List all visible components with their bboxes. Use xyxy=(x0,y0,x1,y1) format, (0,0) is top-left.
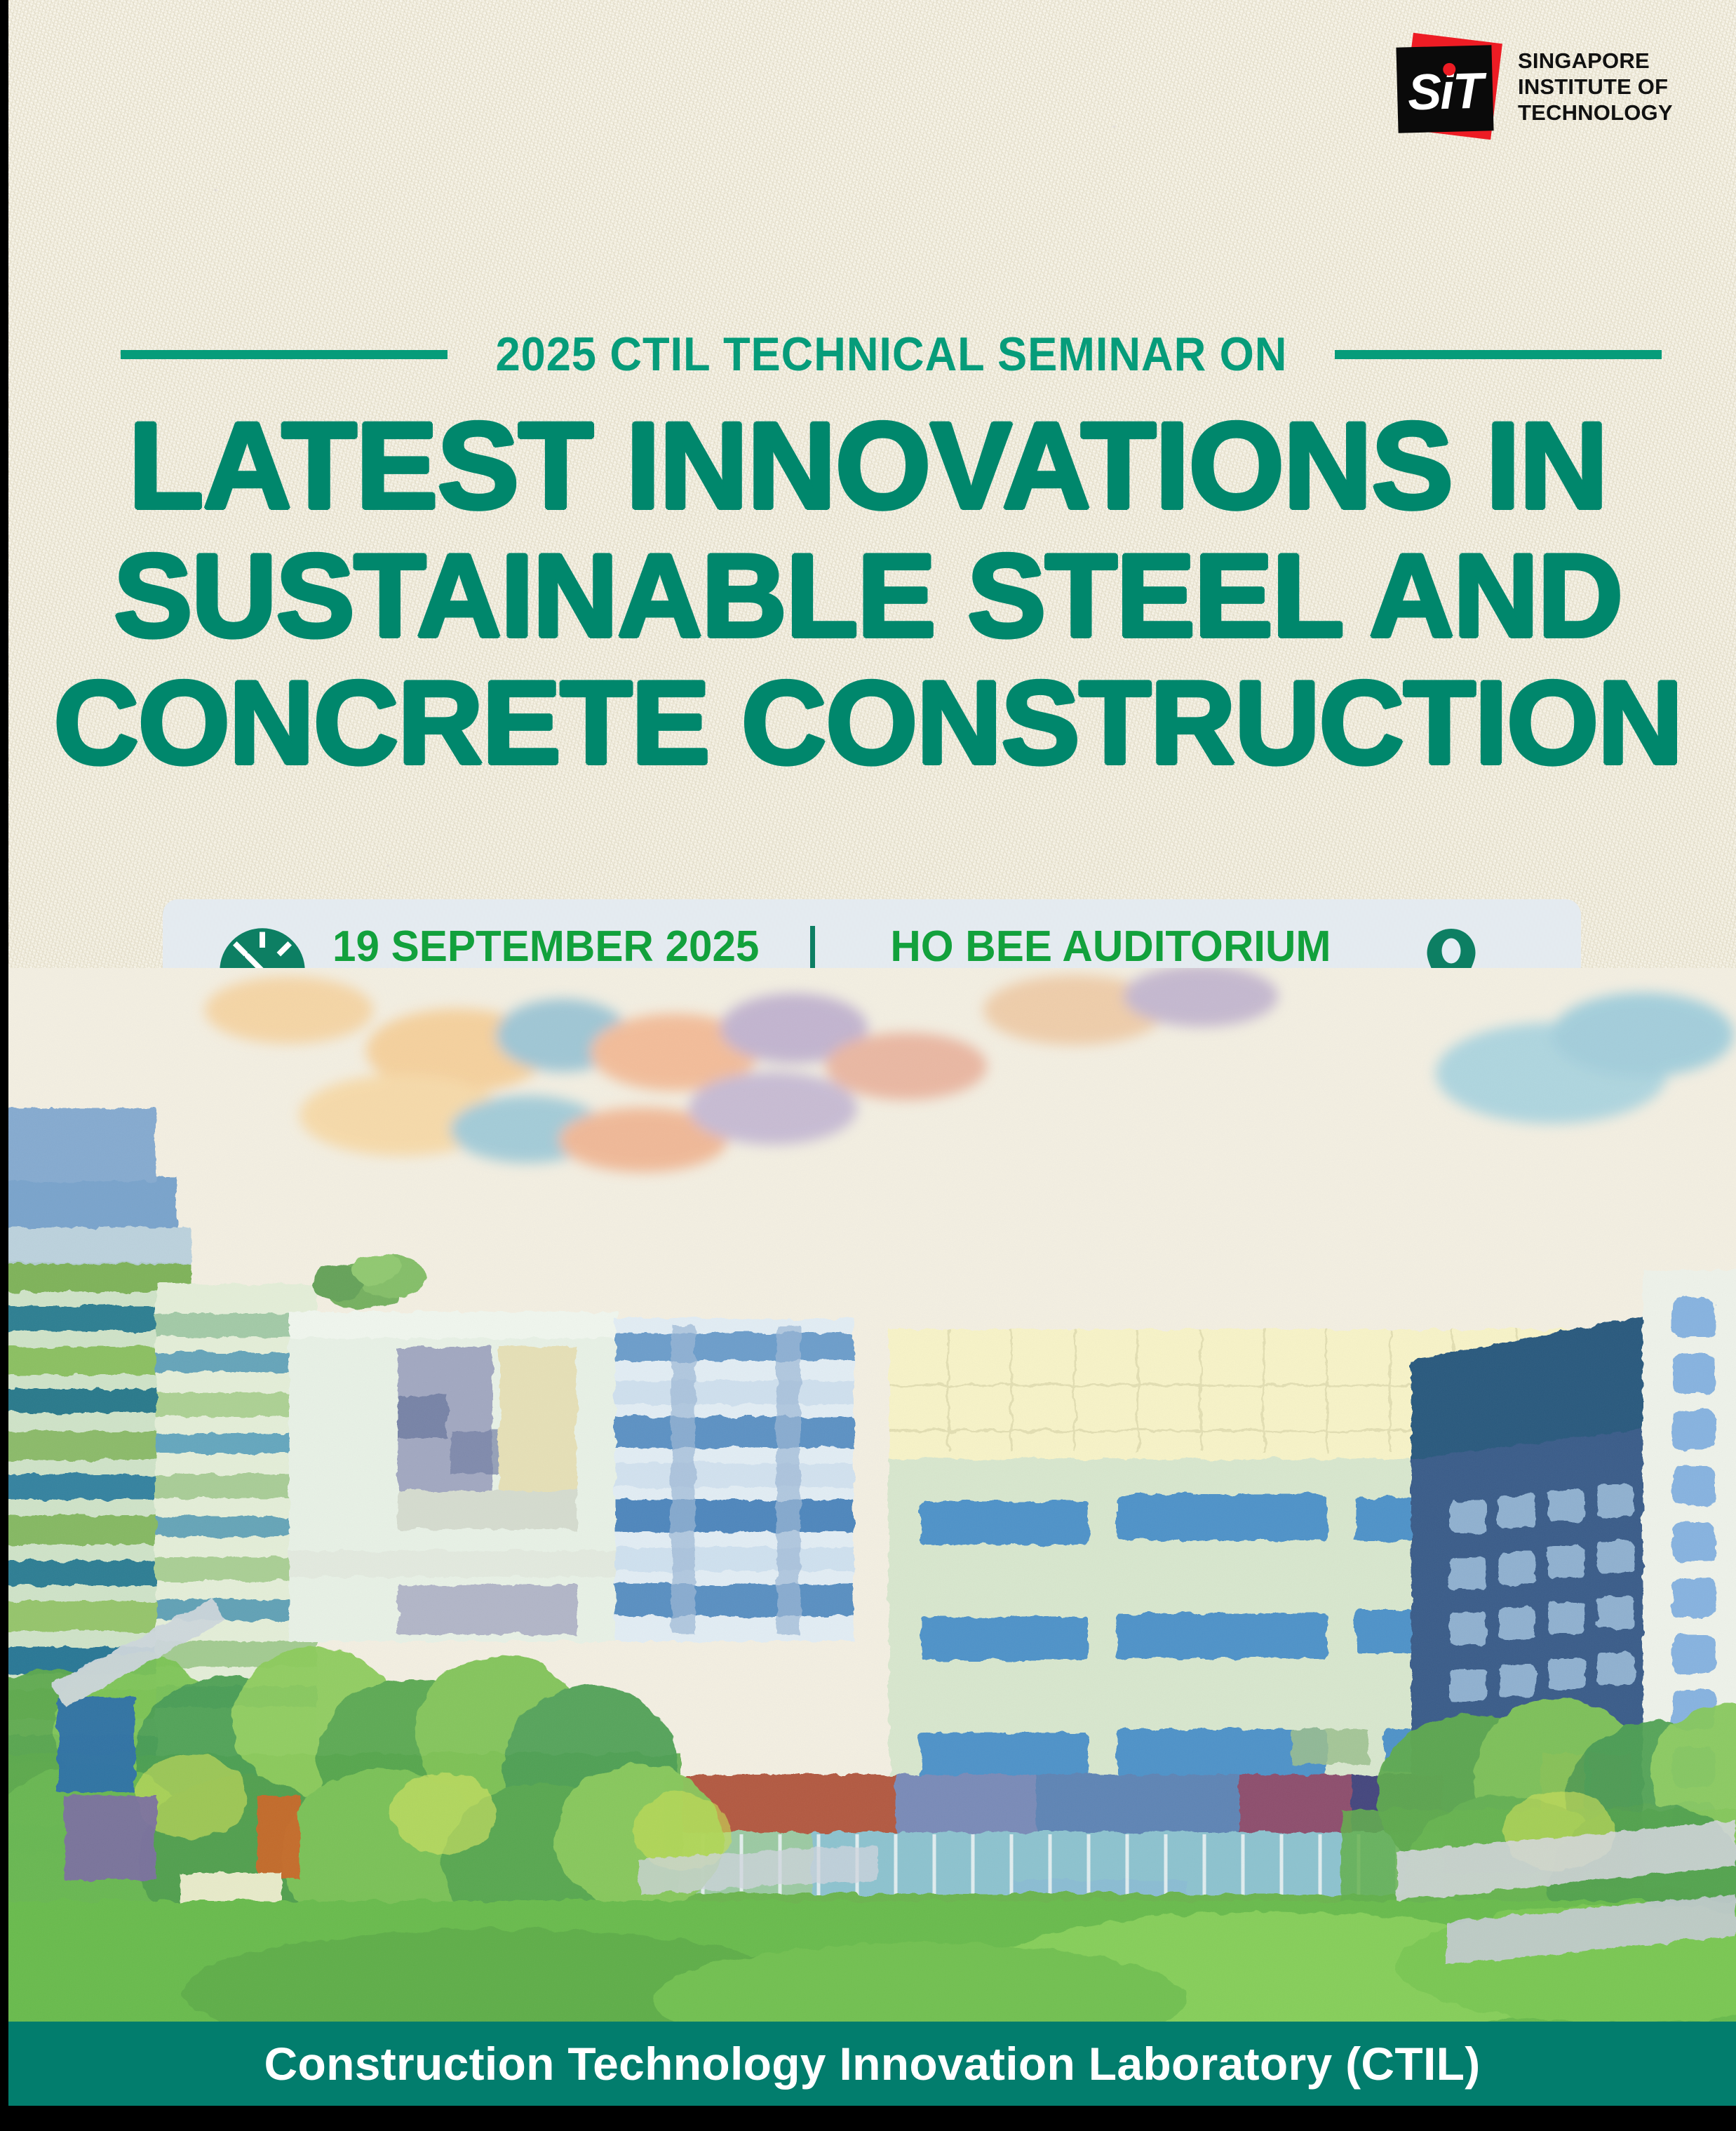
event-date-line-1: 19 SEPTEMBER 2025 xyxy=(332,922,759,972)
eyebrow-row: 2025 CTIL TECHNICAL SEMINAR ON xyxy=(0,316,1736,393)
eyebrow-text: 2025 CTIL TECHNICAL SEMINAR ON xyxy=(495,327,1287,382)
logo-name-line-1: SINGAPORE xyxy=(1518,48,1686,74)
logo-sit-wordmark: SiT xyxy=(1396,45,1493,133)
event-venue-line-1: HO BEE AUDITORIUM xyxy=(891,922,1375,972)
poster-root: SiT SINGAPORE INSTITUTE OF TECHNOLOGY 20… xyxy=(0,0,1736,2131)
eyebrow-rule-right xyxy=(1335,350,1662,359)
bottom-black-strip xyxy=(0,2106,1736,2131)
sit-logo: SiT SINGAPORE INSTITUTE OF TECHNOLOGY xyxy=(1397,34,1685,146)
logo-institution-name: SINGAPORE INSTITUTE OF TECHNOLOGY xyxy=(1518,48,1686,126)
footer-text: Construction Technology Innovation Labor… xyxy=(264,2037,1481,2090)
logo-name-line-2: INSTITUTE OF xyxy=(1518,74,1686,100)
campus-illustration: HO BEE AUDITORIUM xyxy=(8,968,1736,2022)
headline-line-2: SUSTAINABLE STEEL AND xyxy=(0,532,1736,659)
page-title: LATEST INNOVATIONS IN SUSTAINABLE STEEL … xyxy=(0,400,1736,787)
sit-logo-mark: SiT xyxy=(1397,34,1509,139)
logo-name-line-3: TECHNOLOGY xyxy=(1518,100,1686,126)
headline-line-1: LATEST INNOVATIONS IN xyxy=(0,400,1736,532)
footer-banner: Construction Technology Innovation Labor… xyxy=(8,2022,1736,2106)
eyebrow-rule-left xyxy=(121,350,448,359)
headline-line-3: CONCRETE CONSTRUCTION xyxy=(0,659,1736,786)
left-black-edge xyxy=(0,0,8,2131)
